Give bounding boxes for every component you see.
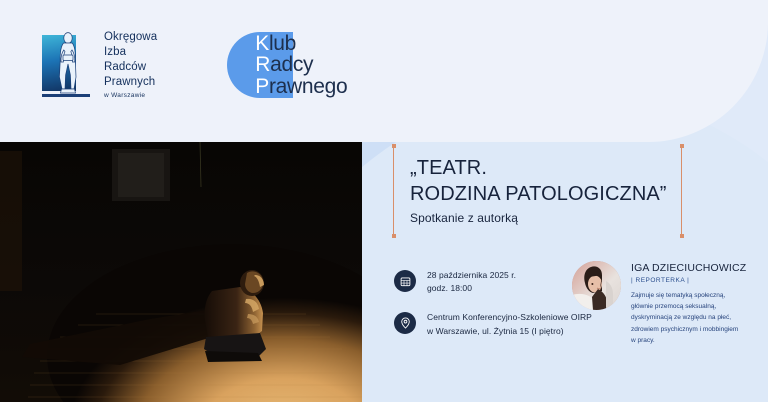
oirp-city-label: w Warszawie [104,92,157,100]
stage-photo [0,141,362,402]
decorative-rule-left [393,146,394,236]
krp-logo-text: Klub Radcy Prawnego [255,33,347,97]
event-subtitle: Spotkanie z autorką [410,211,667,225]
event-details: 28 października 2025 r. godz. 18:00 Cent… [394,269,594,354]
krp-cap-k: K [255,32,269,55]
oirp-line-4: Prawnych [104,75,157,90]
krp-cap-p: P [255,75,269,98]
logo-row: Okręgowa Izba Radców Prawnych w Warszawi… [42,28,347,102]
calendar-icon [394,270,416,292]
speaker-card: IGA DZIECIUCHOWICZ | REPORTERKA | Zajmuj… [572,261,768,346]
oirp-logo[interactable]: Okręgowa Izba Radców Prawnych w Warszawi… [42,30,157,100]
detail-row-date: 28 października 2025 r. godz. 18:00 [394,269,594,295]
detail-row-location: Centrum Konferencyjno-Szkoleniowe OIRP w… [394,311,594,337]
krp-line-klub: Klub [255,33,347,54]
speaker-role: | REPORTERKA | [631,277,746,284]
krp-logo[interactable]: Klub Radcy Prawnego [227,28,347,102]
speaker-name: IGA DZIECIUCHOWICZ [631,262,746,274]
oirp-logo-text: Okręgowa Izba Radców Prawnych w Warszawi… [104,30,157,100]
event-date-text: 28 października 2025 r. godz. 18:00 [427,269,516,295]
content-column: „TEATR. RODZINA PATOLOGICZNA” Spotkanie … [382,141,768,402]
oirp-line-1: Okręgowa [104,30,157,45]
event-title: „TEATR. RODZINA PATOLOGICZNA” [410,155,667,207]
decorative-rule-right [681,146,682,236]
themis-statue-icon [42,31,92,99]
speaker-bio: Zajmuje się tematyką społeczną, głównie … [631,290,746,346]
krp-rest-rawnego: rawnego [269,75,347,98]
location-pin-icon [394,312,416,334]
oirp-line-2: Izba [104,45,157,60]
krp-line-prawnego: Prawnego [255,76,347,97]
speaker-info: IGA DZIECIUCHOWICZ | REPORTERKA | Zajmuj… [631,261,746,346]
krp-rest-lub: lub [269,32,296,55]
krp-rest-adcy: adcy [270,53,313,76]
oirp-line-3: Radców [104,60,157,75]
event-poster: Okręgowa Izba Radców Prawnych w Warszawi… [0,0,768,402]
event-location-text: Centrum Konferencyjno-Szkoleniowe OIRP w… [427,311,592,337]
krp-line-radcy: Radcy [255,54,347,75]
title-block: „TEATR. RODZINA PATOLOGICZNA” Spotkanie … [410,155,667,225]
krp-cap-r: R [255,53,270,76]
speaker-portrait [572,261,621,310]
